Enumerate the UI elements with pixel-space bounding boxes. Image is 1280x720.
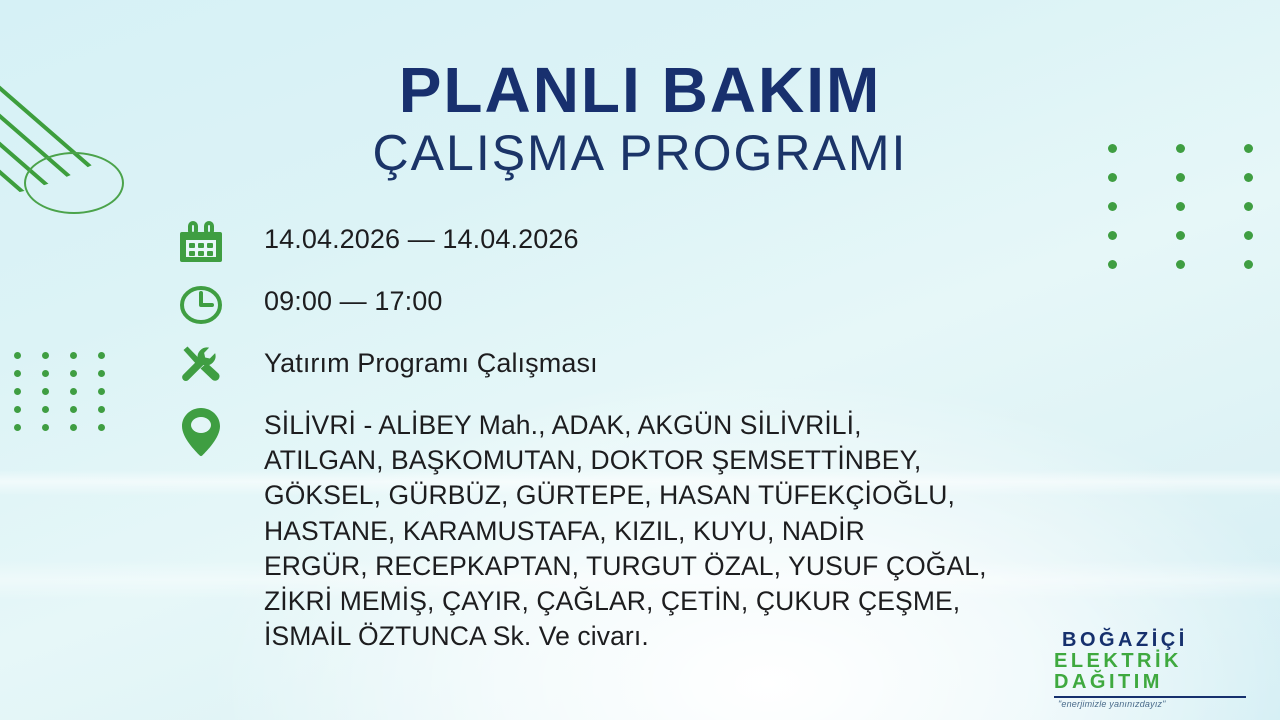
- address-line: GÖKSEL, GÜRBÜZ, GÜRTEPE, HASAN TÜFEKÇİOĞ…: [264, 478, 1238, 513]
- work-type-value: Yatırım Programı Çalışması: [264, 342, 1238, 382]
- decor-dot: [42, 388, 49, 395]
- decor-dot: [98, 406, 105, 413]
- date-range-value: 14.04.2026 — 14.04.2026: [264, 218, 1238, 258]
- decor-dot: [1244, 231, 1253, 240]
- tools-icon: [178, 342, 264, 390]
- decor-dot: [42, 370, 49, 377]
- brand-line-elektrik: ELEKTRİK: [1040, 651, 1262, 672]
- calendar-icon: [178, 218, 264, 266]
- decor-dot: [98, 352, 105, 359]
- brand-logo: BOĞAZİÇİ ELEKTRİK DAĞITIM "enerjimizle y…: [1040, 630, 1262, 709]
- address-line: SİLİVRİ - ALİBEY Mah., ADAK, AKGÜN SİLİV…: [264, 408, 1238, 443]
- decor-dot: [14, 370, 21, 377]
- planned-maintenance-poster: PLANLI BAKIM ÇALIŞMA PROGRAMI: [0, 0, 1280, 720]
- address-line: ERGÜR, RECEPKAPTAN, TURGUT ÖZAL, YUSUF Ç…: [264, 549, 1238, 584]
- clock-icon: [178, 280, 264, 328]
- decor-dot: [14, 388, 21, 395]
- decor-dot: [1244, 202, 1253, 211]
- time-range-value: 09:00 — 17:00: [264, 280, 1238, 320]
- detail-row-time: 09:00 — 17:00: [178, 280, 1238, 328]
- detail-row-work-type: Yatırım Programı Çalışması: [178, 342, 1238, 390]
- maintenance-details: 14.04.2026 — 14.04.2026 09:00 — 17:00: [178, 218, 1238, 667]
- brand-divider: [1054, 696, 1246, 698]
- decor-dot: [70, 352, 77, 359]
- decor-dot: [70, 424, 77, 431]
- brand-line-bogazici: BOĞAZİÇİ: [1040, 630, 1262, 651]
- decor-dot: [1176, 202, 1185, 211]
- detail-row-date: 14.04.2026 — 14.04.2026: [178, 218, 1238, 266]
- decor-dot: [14, 352, 21, 359]
- decor-dot: [42, 406, 49, 413]
- decor-dot: [14, 424, 21, 431]
- decor-dot: [70, 370, 77, 377]
- page-title: PLANLI BAKIM: [0, 58, 1280, 123]
- poster-title-block: PLANLI BAKIM ÇALIŞMA PROGRAMI: [0, 58, 1280, 180]
- address-line: ATILGAN, BAŞKOMUTAN, DOKTOR ŞEMSETTİNBEY…: [264, 443, 1238, 478]
- decor-dot: [98, 424, 105, 431]
- detail-row-location: SİLİVRİ - ALİBEY Mah., ADAK, AKGÜN SİLİV…: [178, 404, 1238, 655]
- decor-dot: [98, 370, 105, 377]
- page-subtitle: ÇALIŞMA PROGRAMI: [0, 127, 1280, 180]
- address-line: ZİKRİ MEMİŞ, ÇAYIR, ÇAĞLAR, ÇETİN, ÇUKUR…: [264, 584, 1238, 619]
- dot-grid-left-decoration: [14, 352, 126, 442]
- decor-dot: [42, 352, 49, 359]
- map-pin-icon: [178, 404, 264, 458]
- decor-dot: [70, 388, 77, 395]
- decor-dot: [1244, 260, 1253, 269]
- decor-dot: [1108, 202, 1117, 211]
- decor-dot: [42, 424, 49, 431]
- location-value: SİLİVRİ - ALİBEY Mah., ADAK, AKGÜN SİLİV…: [264, 404, 1238, 655]
- address-line: HASTANE, KARAMUSTAFA, KIZIL, KUYU, NADİR: [264, 514, 1238, 549]
- decor-dot: [70, 406, 77, 413]
- brand-line-dagitim: DAĞITIM: [1040, 672, 1262, 693]
- brand-tagline: "enerjimizle yanınızdayız": [1058, 699, 1262, 709]
- decor-dot: [14, 406, 21, 413]
- decor-dot: [98, 388, 105, 395]
